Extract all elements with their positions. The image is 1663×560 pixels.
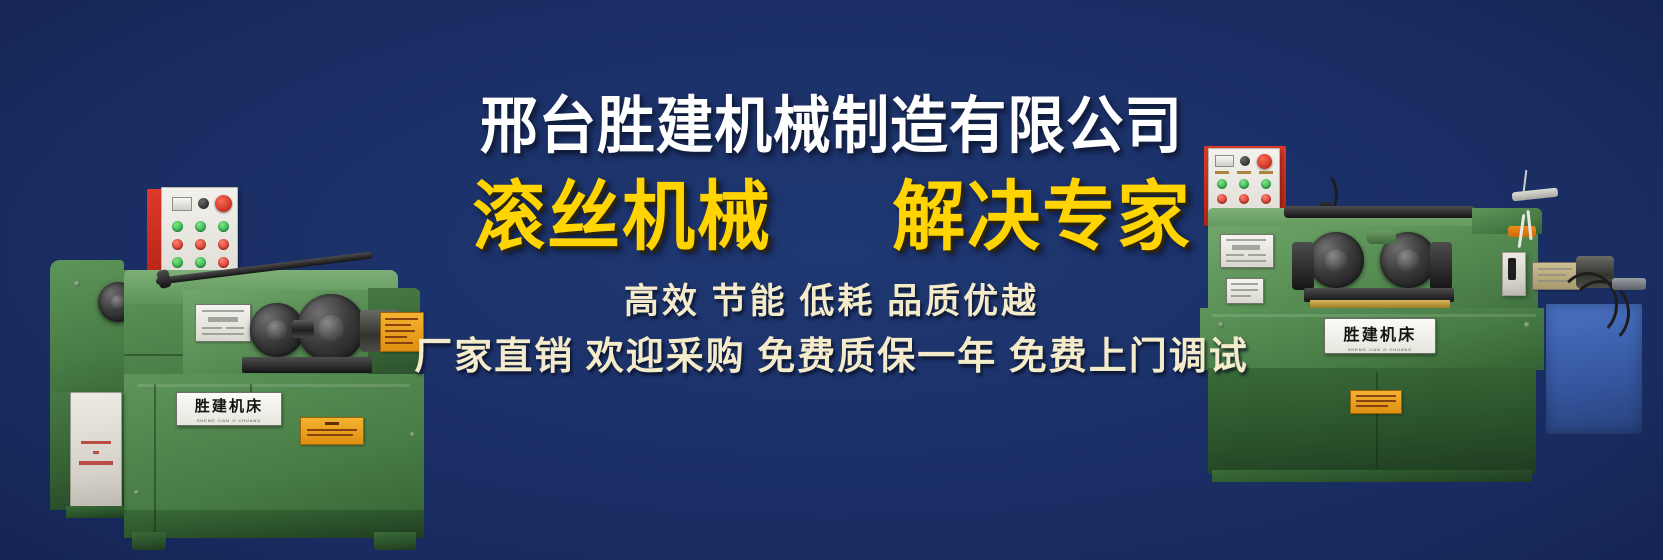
machine-nameplate-left: 胜建机床 SHENG JIAN JI CHUANG (176, 392, 282, 426)
promotional-banner: 胜建机床 SHENG JIAN JI CHUANG (0, 0, 1663, 560)
slogan-row: 滚丝机械 解决专家 (0, 180, 1663, 256)
body-bolt-1 (134, 490, 139, 495)
cabinet-label-line-2 (93, 451, 99, 454)
slogan-right: 解决专家 (892, 180, 1192, 256)
banner-text-block: 邢台胜建机械制造有限公司 滚丝机械 解决专家 高效 节能 低耗 品质优越 厂家直… (0, 96, 1663, 376)
machine-main-body-right (1208, 368, 1536, 474)
nameplate-en-text: SHENG JIAN JI CHUANG (197, 418, 261, 423)
warning-sticker-title-bar (325, 422, 339, 425)
machine-foot-right (374, 532, 416, 550)
body-bolt-2 (410, 432, 415, 437)
body-seam-right (1376, 372, 1378, 472)
nameplate-cn-text: 胜建机床 (195, 395, 263, 416)
tagline-services: 厂家直销 欢迎采购 免费质保一年 免费上门调试 (0, 338, 1663, 376)
machine-foot-left (132, 532, 166, 550)
slogan-left: 滚丝机械 (472, 180, 772, 256)
electrical-cabinet (70, 392, 122, 512)
tagline-features: 高效 节能 低耗 品质优越 (0, 284, 1663, 319)
cabinet-label-line-1 (81, 441, 111, 444)
warning-sticker-left (300, 417, 364, 445)
cabinet-foot (66, 506, 124, 518)
company-name: 邢台胜建机械制造有限公司 (58, 96, 1605, 158)
body-highlight (138, 384, 410, 387)
body-seam-1 (154, 384, 156, 534)
warning-sticker-right (1350, 390, 1402, 414)
machine-base-right (1212, 470, 1532, 482)
cabinet-label-line-3 (79, 461, 113, 465)
